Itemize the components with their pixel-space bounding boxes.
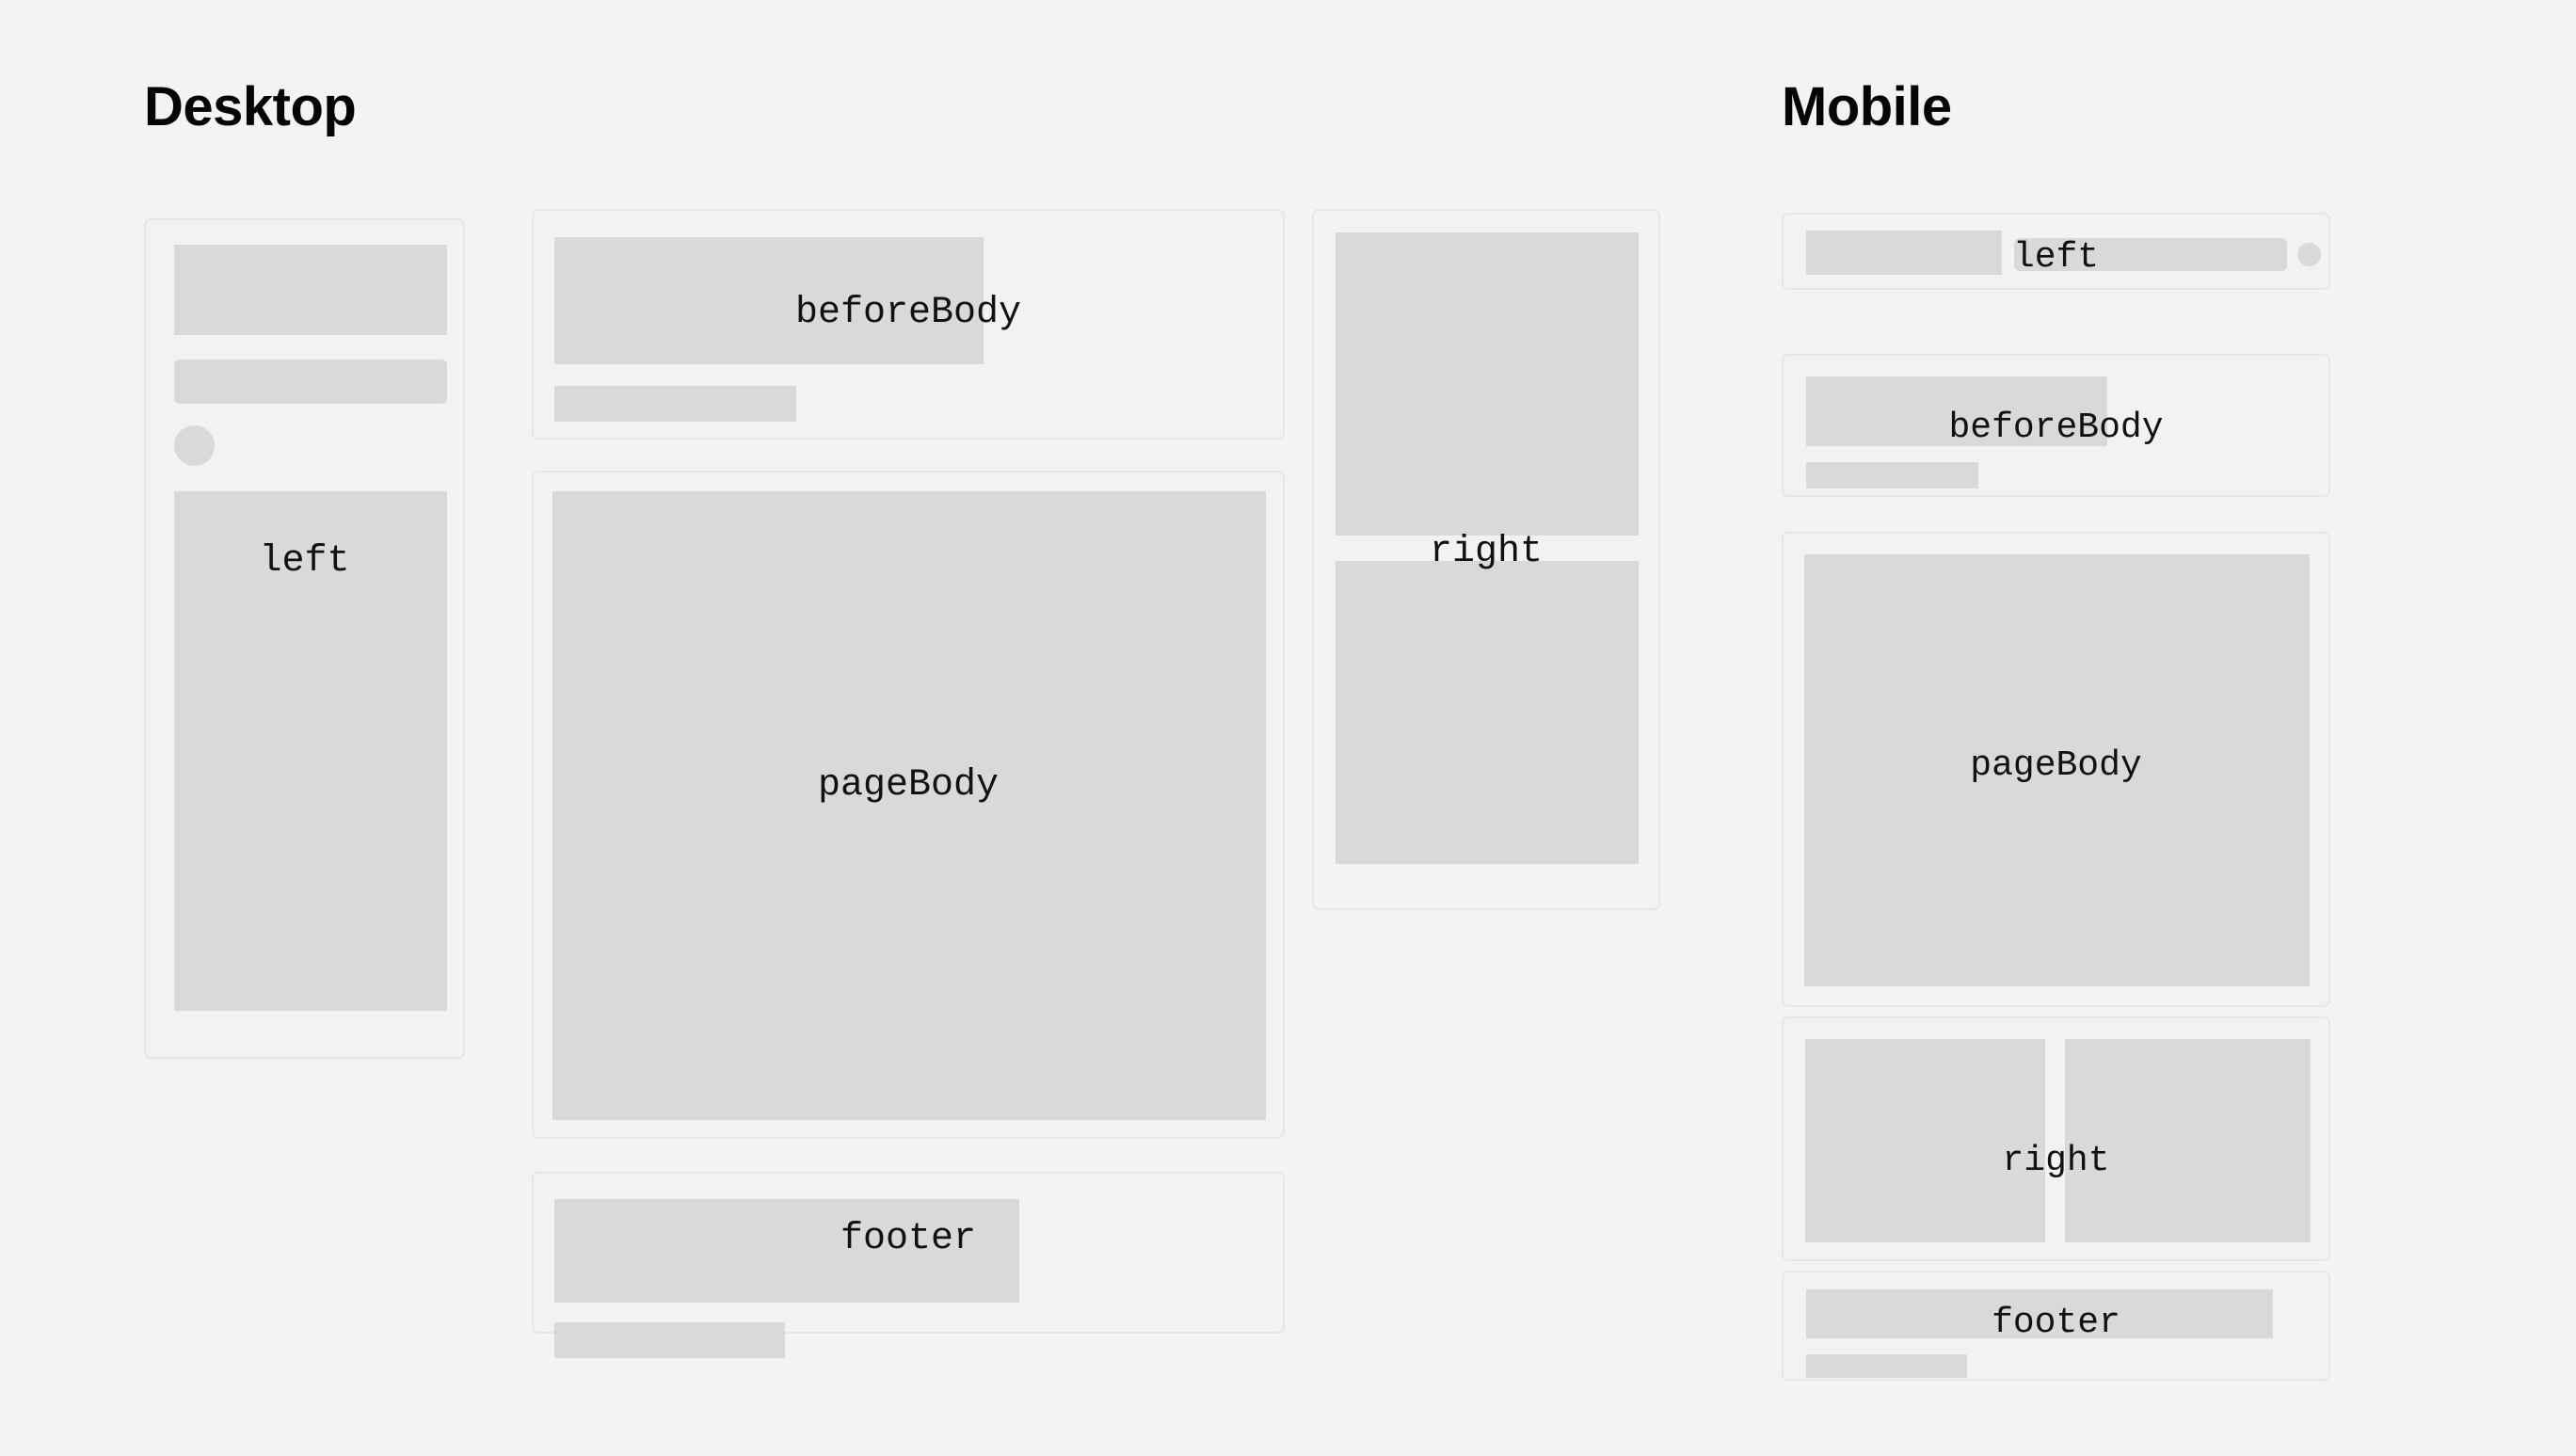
mobile-region-footer-panel[interactable] (1782, 1271, 2330, 1381)
desktop-region-footer-panel[interactable] (532, 1172, 1285, 1334)
desktop-region-before-body-panel[interactable] (532, 209, 1285, 440)
skeleton-block (1336, 232, 1639, 536)
skeleton-bar (2014, 238, 2287, 271)
desktop-region-right-panel[interactable] (1312, 209, 1660, 910)
mobile-region-page-body-panel[interactable] (1782, 532, 2330, 1007)
skeleton-avatar-circle-icon (174, 425, 215, 466)
skeleton-block (554, 237, 984, 364)
layout-preview-canvas: Desktop left beforeBody pageBody right f… (0, 0, 2576, 1456)
skeleton-bar (174, 360, 447, 404)
skeleton-block (1806, 231, 2002, 275)
skeleton-block (1805, 1039, 2045, 1242)
skeleton-block (174, 245, 447, 335)
mobile-region-right-panel[interactable] (1782, 1016, 2330, 1261)
skeleton-avatar-circle-icon (2297, 243, 2321, 266)
skeleton-block (1804, 554, 2310, 986)
skeleton-bar (554, 386, 796, 422)
desktop-region-page-body-panel[interactable] (532, 471, 1285, 1139)
skeleton-tall-block (174, 491, 447, 1011)
desktop-region-left-panel[interactable] (144, 218, 465, 1059)
skeleton-bar (1806, 462, 1978, 488)
desktop-section-heading: Desktop (144, 80, 356, 135)
skeleton-block (552, 491, 1266, 1120)
skeleton-block (554, 1199, 1019, 1303)
skeleton-block (1806, 376, 2107, 446)
mobile-region-left-panel[interactable] (1782, 213, 2330, 290)
skeleton-bar (554, 1322, 785, 1358)
skeleton-block (1336, 561, 1639, 864)
mobile-region-before-body-panel[interactable] (1782, 354, 2330, 497)
mobile-section-heading: Mobile (1782, 80, 1952, 135)
skeleton-bar (1806, 1354, 1967, 1378)
skeleton-block (1806, 1289, 2273, 1338)
skeleton-block (2065, 1039, 2311, 1242)
